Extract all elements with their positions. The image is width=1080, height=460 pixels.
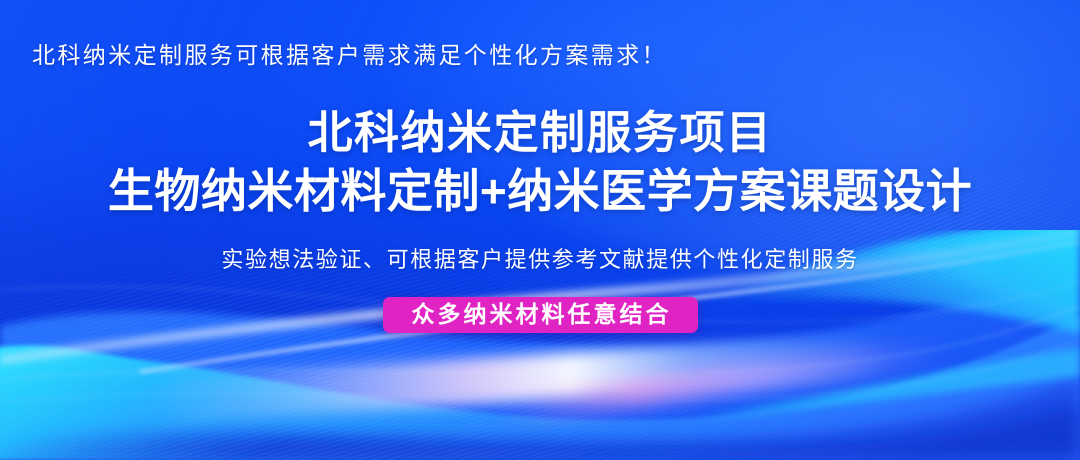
banner-content: 北科纳米定制服务可根据客户需求满足个性化方案需求！ 北科纳米定制服务项目 生物纳… [0,0,1080,460]
kicker-text: 北科纳米定制服务可根据客户需求满足个性化方案需求！ [32,36,667,70]
badge-row: 众多纳米材料任意结合 [0,297,1080,333]
headline-line-2: 生物纳米材料定制+纳米医学方案课题设计 [0,162,1080,220]
subtitle-text: 实验想法验证、可根据客户提供参考文献提供个性化定制服务 [0,242,1080,274]
highlight-badge: 众多纳米材料任意结合 [383,297,698,333]
headline-line-1: 北科纳米定制服务项目 [0,104,1080,162]
promo-banner: 北科纳米定制服务可根据客户需求满足个性化方案需求！ 北科纳米定制服务项目 生物纳… [0,0,1080,460]
headline-block: 北科纳米定制服务项目 生物纳米材料定制+纳米医学方案课题设计 [0,104,1080,220]
